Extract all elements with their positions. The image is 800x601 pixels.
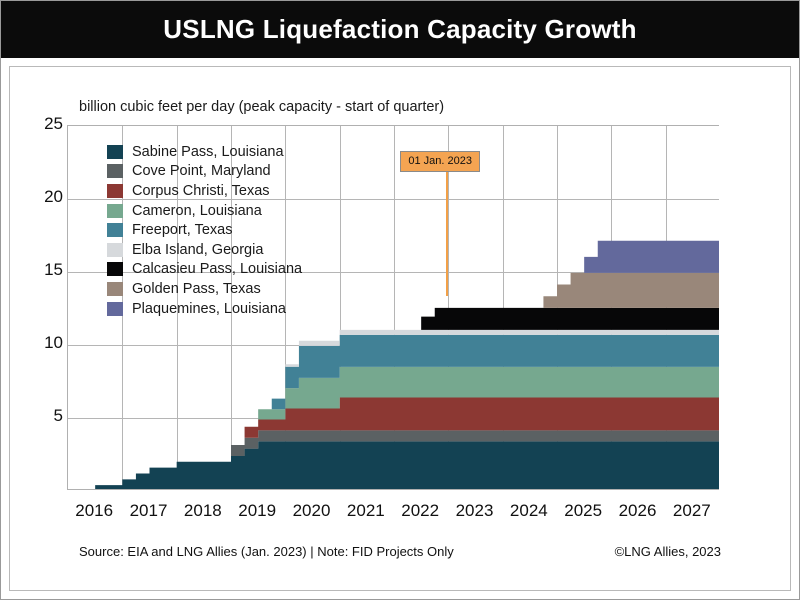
y-tick-label: 20: [23, 187, 63, 207]
legend-item[interactable]: Sabine Pass, Louisiana: [107, 142, 302, 162]
x-tick-label: 2023: [448, 501, 502, 521]
legend-item-label: Sabine Pass, Louisiana: [132, 144, 284, 160]
page-title: USLNG Liquefaction Capacity Growth: [163, 14, 636, 45]
legend-item[interactable]: Golden Pass, Texas: [107, 279, 302, 299]
y-tick-label: 15: [23, 260, 63, 280]
legend-item[interactable]: Corpus Christi, Texas: [107, 181, 302, 201]
copyright-note: ©LNG Allies, 2023: [615, 544, 721, 559]
legend-swatch-icon: [107, 223, 123, 237]
x-tick-label: 2024: [502, 501, 556, 521]
legend-item-label: Freeport, Texas: [132, 222, 232, 238]
annotation-label[interactable]: 01 Jan. 2023: [400, 151, 480, 172]
legend-item-label: Golden Pass, Texas: [132, 281, 261, 297]
x-tick-label: 2022: [393, 501, 447, 521]
legend-item-label: Plaquemines, Louisiana: [132, 301, 286, 317]
y-axis-label: billion cubic feet per day (peak capacit…: [79, 99, 444, 115]
legend-swatch-icon: [107, 204, 123, 218]
legend-item[interactable]: Plaquemines, Louisiana: [107, 299, 302, 319]
legend-item-label: Elba Island, Georgia: [132, 242, 263, 258]
chart-window: USLNG Liquefaction Capacity Growth billi…: [0, 0, 800, 600]
y-tick-label: 5: [23, 406, 63, 426]
chart-legend: Sabine Pass, LouisianaCove Point, Maryla…: [107, 142, 302, 318]
legend-item-label: Cameron, Louisiana: [132, 203, 262, 219]
x-tick-label: 2021: [339, 501, 393, 521]
x-tick-label: 2019: [230, 501, 284, 521]
x-tick-label: 2025: [556, 501, 610, 521]
x-tick-label: 2020: [285, 501, 339, 521]
legend-swatch-icon: [107, 145, 123, 159]
area-series: [68, 441, 719, 490]
y-tick-label: 10: [23, 333, 63, 353]
x-tick-label: 2027: [665, 501, 719, 521]
legend-item[interactable]: Elba Island, Georgia: [107, 240, 302, 260]
x-tick-label: 2026: [611, 501, 665, 521]
title-bar: USLNG Liquefaction Capacity Growth: [1, 1, 799, 58]
legend-swatch-icon: [107, 164, 123, 178]
legend-swatch-icon: [107, 184, 123, 198]
legend-item[interactable]: Cameron, Louisiana: [107, 201, 302, 221]
x-tick-label: 2017: [122, 501, 176, 521]
legend-item[interactable]: Calcasieu Pass, Louisiana: [107, 260, 302, 280]
x-axis-ticks: 2016201720182019202020212022202320242025…: [67, 501, 719, 529]
legend-item-label: Calcasieu Pass, Louisiana: [132, 261, 302, 277]
legend-swatch-icon: [107, 262, 123, 276]
legend-item-label: Cove Point, Maryland: [132, 163, 271, 179]
annotation-line: [446, 151, 448, 296]
legend-item[interactable]: Cove Point, Maryland: [107, 162, 302, 182]
x-tick-label: 2016: [67, 501, 121, 521]
legend-swatch-icon: [107, 282, 123, 296]
legend-swatch-icon: [107, 243, 123, 257]
y-axis-ticks: 510152025: [19, 1, 63, 601]
y-tick-label: 25: [23, 114, 63, 134]
legend-swatch-icon: [107, 302, 123, 316]
source-note: Source: EIA and LNG Allies (Jan. 2023) |…: [79, 544, 454, 559]
x-tick-label: 2018: [176, 501, 230, 521]
legend-item[interactable]: Freeport, Texas: [107, 220, 302, 240]
legend-item-label: Corpus Christi, Texas: [132, 183, 270, 199]
